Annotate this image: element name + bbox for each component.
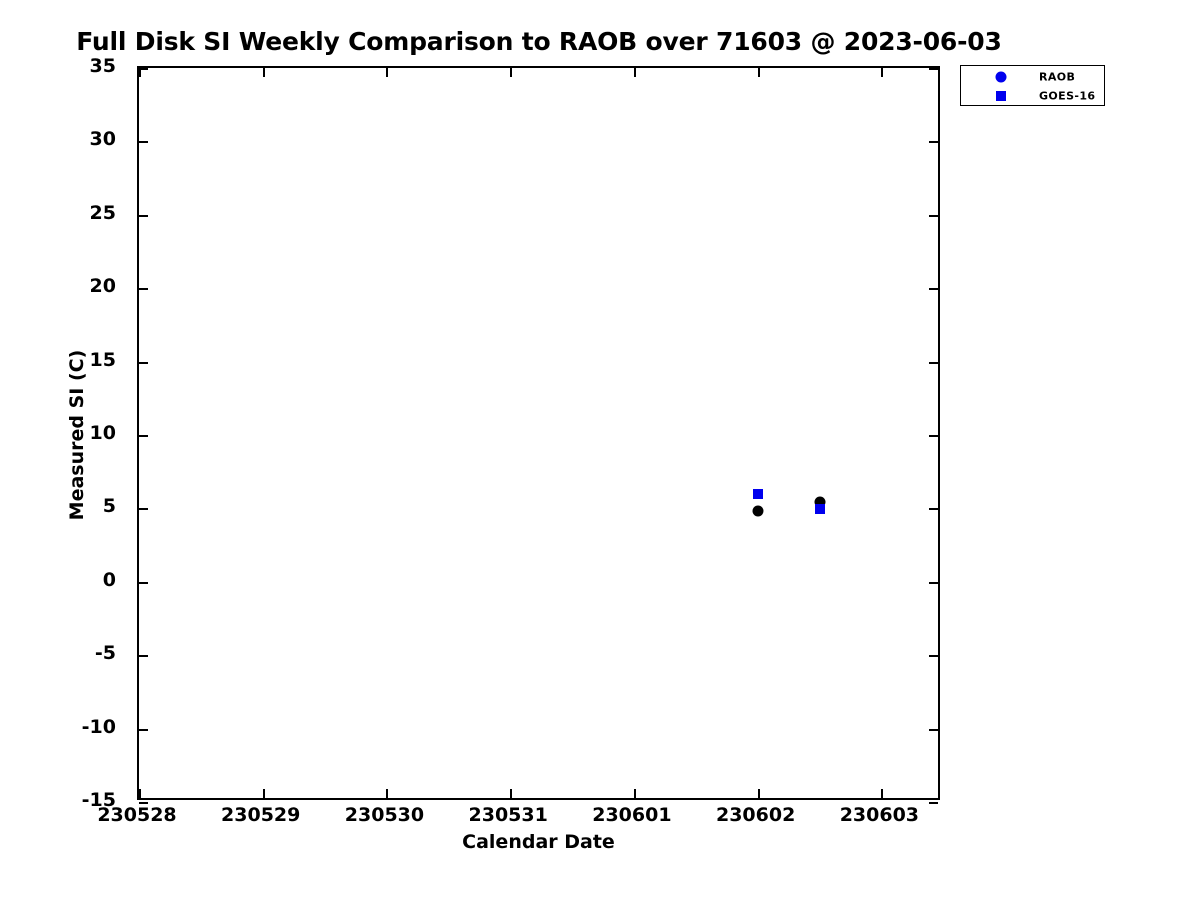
x-axis-tick-label: 230529 bbox=[221, 804, 300, 826]
x-axis-tick-label: 230528 bbox=[97, 804, 176, 826]
legend-item-goes-16[interactable]: GOES-16 bbox=[961, 86, 1104, 105]
y-axis-tick-label: 35 bbox=[0, 55, 128, 77]
chart-legend: RAOB GOES-16 bbox=[960, 65, 1105, 106]
legend-label: GOES-16 bbox=[1039, 89, 1096, 102]
x-axis-tick-label: 230531 bbox=[469, 804, 548, 826]
y-axis-tick-label: -10 bbox=[0, 716, 128, 738]
legend-item-raob[interactable]: RAOB bbox=[961, 67, 1104, 86]
x-axis-tick-label: 230601 bbox=[592, 804, 671, 826]
legend-square-icon bbox=[996, 91, 1006, 101]
y-axis-tick-label: 30 bbox=[0, 128, 128, 150]
y-axis-title: Measured SI (C) bbox=[66, 68, 88, 802]
plot-area bbox=[137, 66, 940, 800]
y-axis-tick-label: -5 bbox=[0, 642, 128, 664]
y-axis-tick-label: 0 bbox=[0, 569, 128, 591]
y-axis-tick-label: 5 bbox=[0, 495, 128, 517]
legend-label: RAOB bbox=[1039, 70, 1075, 83]
y-axis-tick-label: 20 bbox=[0, 275, 128, 297]
x-axis-title: Calendar Date bbox=[137, 831, 940, 853]
x-axis-tick-label: 230602 bbox=[716, 804, 795, 826]
legend-circle-icon bbox=[996, 71, 1007, 82]
x-axis-tick-labels: 2305282305292305302305312306012306022306… bbox=[137, 804, 940, 834]
data-point-goes-16 bbox=[815, 504, 825, 514]
chart-figure: Full Disk SI Weekly Comparison to RAOB o… bbox=[0, 0, 1200, 900]
y-axis-tick-label: 15 bbox=[0, 349, 128, 371]
y-axis-tick-labels: 35302520151050-5-10-15 bbox=[0, 66, 128, 800]
data-point-raob bbox=[752, 506, 763, 517]
x-axis-tick-label: 230603 bbox=[840, 804, 919, 826]
x-axis-tick-label: 230530 bbox=[345, 804, 424, 826]
data-point-goes-16 bbox=[753, 489, 763, 499]
y-axis-tick-label: 25 bbox=[0, 202, 128, 224]
page-title: Full Disk SI Weekly Comparison to RAOB o… bbox=[0, 27, 1078, 56]
y-axis-tick-label: 10 bbox=[0, 422, 128, 444]
data-points-layer bbox=[139, 68, 938, 798]
